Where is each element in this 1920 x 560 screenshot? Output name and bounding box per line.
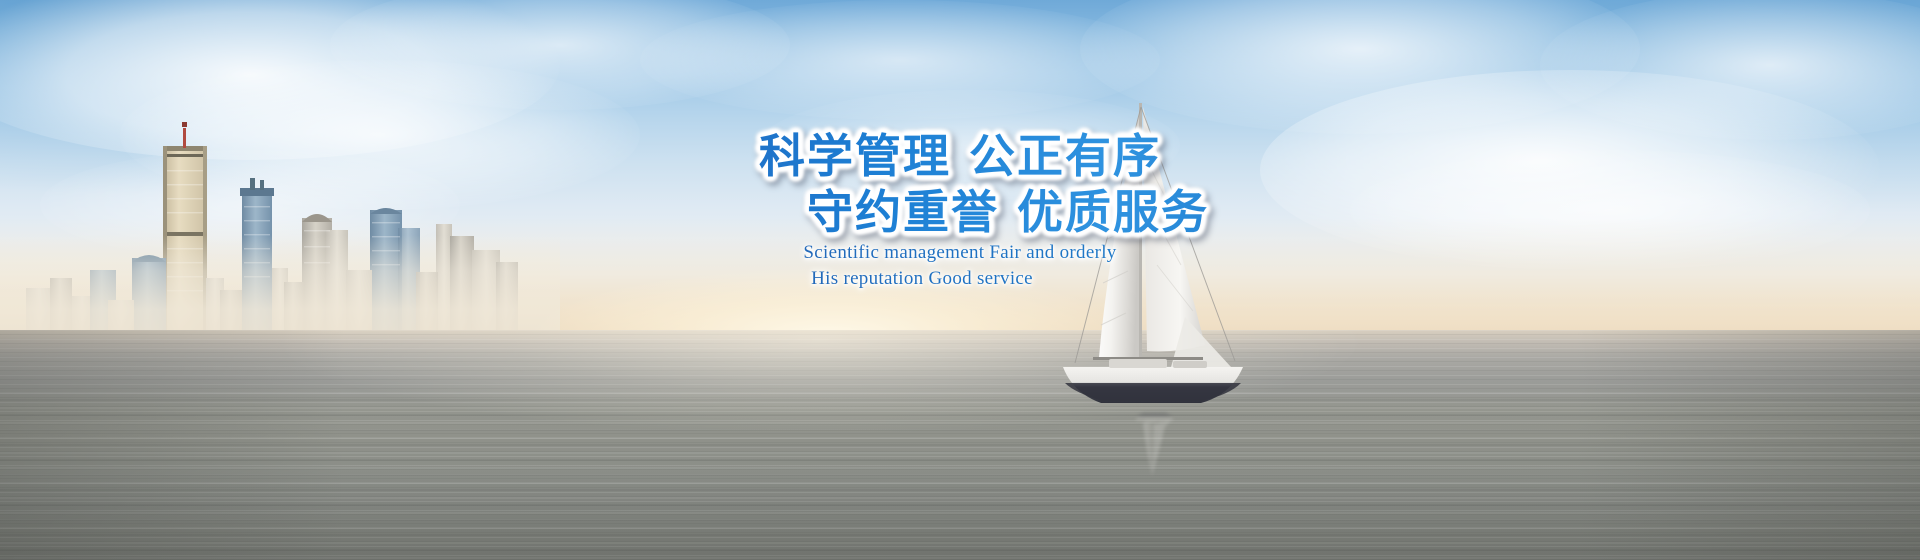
sea-vignette (0, 330, 1920, 560)
sailboat-reflection (1035, 408, 1275, 478)
hero-banner: 科学管理 公正有序 守约重誉 优质服务 Scientific managemen… (0, 0, 1920, 560)
sailboat (1035, 95, 1275, 425)
